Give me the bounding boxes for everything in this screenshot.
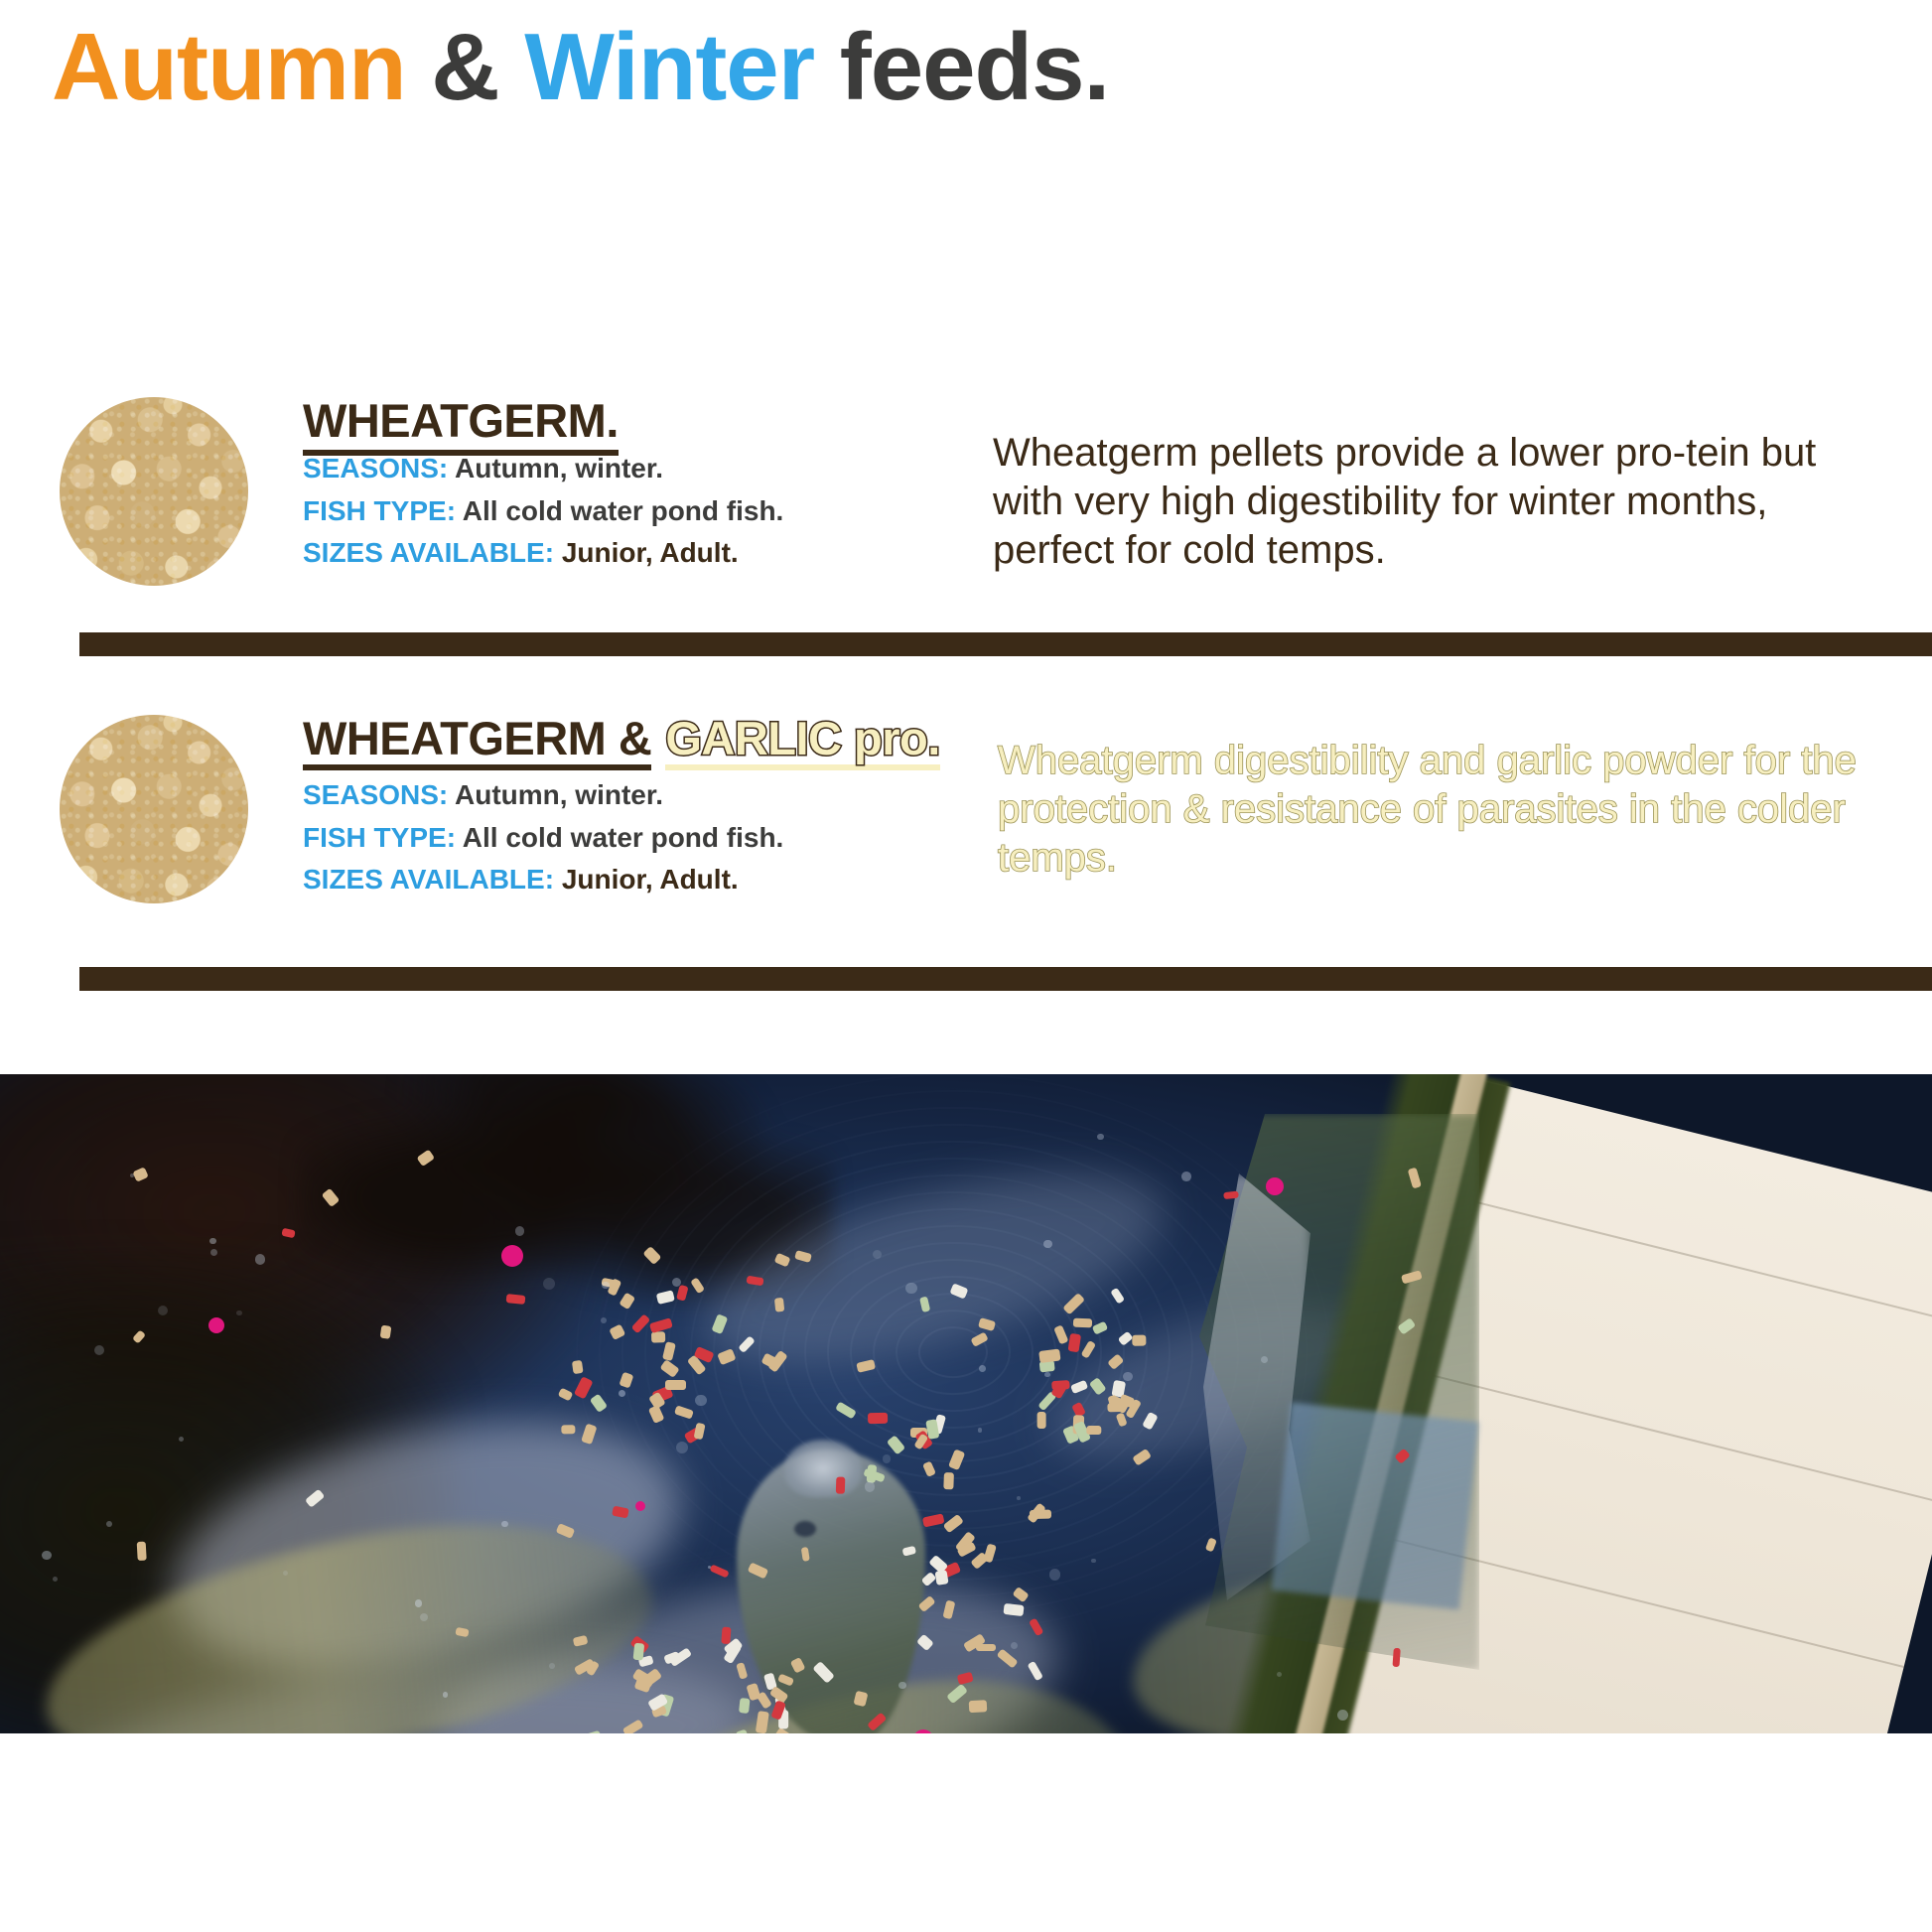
spec-label-fishtype: FISH TYPE: [303, 495, 456, 526]
section-divider-bar [79, 632, 1932, 656]
page-title: Autumn & Winter feeds. [52, 18, 1109, 118]
water-bubble [695, 1395, 707, 1407]
floating-pellet [633, 1643, 644, 1661]
water-bubble [602, 1282, 609, 1289]
pellet-texture-overlay [60, 715, 248, 903]
water-bubble [106, 1521, 112, 1527]
spec-label-fishtype: FISH TYPE: [303, 822, 456, 853]
floating-pellet [935, 1571, 949, 1586]
wheatgerm-spec-fishtype: FISH TYPE: All cold water pond fish. [303, 490, 978, 533]
water-bubble [979, 1365, 986, 1372]
floating-pellet [380, 1325, 392, 1340]
wheatgerm-pellet-image [60, 397, 248, 586]
garlic-description: Wheatgerm digestibility and garlic powde… [998, 737, 1891, 882]
floating-pellet [1392, 1648, 1400, 1668]
spec-value-sizes: Junior, Adult. [562, 864, 739, 895]
water-bubble [236, 1311, 242, 1316]
water-bubble [515, 1226, 524, 1235]
water-bubble [1091, 1559, 1096, 1564]
title-part-winter: Winter [524, 14, 839, 120]
floating-pink-pellet [501, 1245, 523, 1267]
wheatgerm-description: Wheatgerm pellets provide a lower pro-te… [993, 429, 1886, 574]
spec-value-fishtype: All cold water pond fish. [463, 495, 784, 526]
garlic-spec-seasons: SEASONS: Autumn, winter. [303, 774, 978, 817]
floating-pellet [1038, 1348, 1060, 1362]
water-bubble [443, 1692, 449, 1698]
water-bubble [210, 1249, 217, 1256]
floating-pellet [969, 1700, 988, 1713]
floating-pink-pellet [208, 1317, 224, 1333]
title-part-feeds: feeds. [840, 14, 1109, 120]
wheatgerm-text-column: WHEATGERM. SEASONS: Autumn, winter. FISH… [303, 397, 978, 575]
water-bubble [415, 1599, 422, 1606]
spec-value-seasons: Autumn, winter. [455, 779, 663, 810]
floating-pellet [739, 1698, 751, 1714]
floating-pellet [572, 1360, 584, 1375]
product-block-wheatgerm-garlic: WHEATGERM &GARLIC pro. SEASONS: Autumn, … [0, 715, 1932, 973]
garlic-spec-fishtype: FISH TYPE: All cold water pond fish. [303, 817, 978, 860]
water-bubble [130, 1173, 134, 1177]
floating-pellet [1037, 1412, 1046, 1429]
water-bubble [1337, 1710, 1348, 1721]
water-bubble [42, 1551, 51, 1560]
garlic-heading-accent: GARLIC pro. [665, 715, 939, 770]
spec-value-sizes: Junior, Adult. [562, 537, 739, 568]
floating-pellet [665, 1380, 686, 1390]
title-part-autumn: Autumn [52, 14, 431, 120]
floating-pellet [836, 1477, 845, 1495]
water-bubble [1123, 1372, 1133, 1382]
wheatgerm-spec-sizes: SIZES AVAILABLE: Junior, Adult. [303, 532, 978, 575]
water-bubble [255, 1254, 265, 1264]
floating-pellet [1073, 1317, 1092, 1327]
floating-pellet [1131, 1334, 1146, 1345]
floating-pellet [561, 1425, 575, 1435]
spec-label-seasons: SEASONS: [303, 779, 448, 810]
water-bubble [1049, 1569, 1060, 1580]
garlic-heading-text: WHEATGERM & [303, 715, 651, 770]
spec-label-sizes: SIZES AVAILABLE: [303, 537, 554, 568]
water-bubble [1181, 1172, 1191, 1181]
garlic-heading: WHEATGERM &GARLIC pro. [303, 715, 978, 770]
koi-fish-eye [794, 1521, 816, 1537]
title-part-ampersand: & [431, 14, 524, 120]
water-bubble [1017, 1496, 1021, 1500]
water-bubble [883, 1454, 891, 1462]
water-bubble [905, 1283, 917, 1295]
floating-pellet [722, 1627, 732, 1645]
water-bubble [1097, 1134, 1103, 1140]
spec-label-sizes: SIZES AVAILABLE: [303, 864, 554, 895]
floating-pellet [774, 1298, 784, 1312]
garlic-text-column: WHEATGERM &GARLIC pro. SEASONS: Autumn, … [303, 715, 978, 901]
spec-value-fishtype: All cold water pond fish. [463, 822, 784, 853]
floating-pellet [866, 1464, 877, 1483]
water-bubble [94, 1345, 104, 1355]
water-bubble [1043, 1240, 1051, 1248]
garlic-pellet-image [60, 715, 248, 903]
water-bubble [601, 1317, 607, 1323]
floating-pellet [1086, 1426, 1101, 1435]
section-divider-bar [79, 967, 1932, 991]
floating-pellet [136, 1542, 146, 1562]
water-bubble [543, 1278, 555, 1290]
spec-label-seasons: SEASONS: [303, 453, 448, 483]
floating-pink-pellet [1266, 1177, 1284, 1195]
product-block-wheatgerm: WHEATGERM. SEASONS: Autumn, winter. FISH… [0, 397, 1932, 645]
wheatgerm-spec-seasons: SEASONS: Autumn, winter. [303, 448, 978, 490]
water-bubble [501, 1521, 508, 1528]
water-bubble [708, 1566, 711, 1569]
water-bubble [1006, 1603, 1014, 1611]
floating-pink-pellet [635, 1501, 645, 1511]
garlic-spec-sizes: SIZES AVAILABLE: Junior, Adult. [303, 859, 978, 901]
spec-value-seasons: Autumn, winter. [455, 453, 663, 483]
pellet-texture-overlay [60, 397, 248, 586]
water-bubble [898, 1682, 906, 1690]
wheatgerm-heading-text: WHEATGERM. [303, 394, 619, 456]
pond-feeding-photo [0, 1074, 1932, 1733]
floating-pellet [868, 1413, 888, 1424]
floating-pellet [976, 1644, 996, 1651]
koi-fish-mouth [784, 1440, 862, 1497]
wheatgerm-heading: WHEATGERM. [303, 397, 978, 444]
floating-pellet [651, 1331, 665, 1343]
sign-reflection [1272, 1403, 1479, 1610]
floating-pellet [944, 1472, 954, 1490]
